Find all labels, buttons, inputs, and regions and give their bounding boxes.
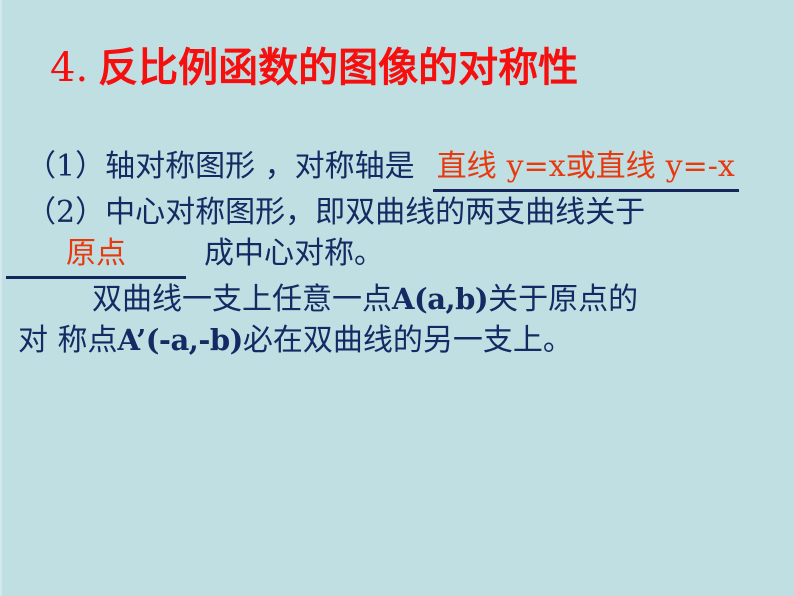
line3-answer-origin: 原点 <box>66 236 126 271</box>
line1-text: 轴对称图形 ，对称轴是 <box>105 149 415 184</box>
line1-answer-line-label-1: 直线 <box>437 149 497 184</box>
body-line-2: （2）中心对称图形，即双曲线的两支曲线关于 <box>0 192 794 233</box>
page-title: 4.反比例函数的图像的对称性 <box>50 44 578 92</box>
line3-text: 成中心对称。 <box>204 236 384 271</box>
body-line-3: 原点成中心对称。 <box>0 233 794 279</box>
line1-answer-blank: 直线y=x或直线y=-x <box>433 146 739 192</box>
title-number: 4. <box>50 45 88 91</box>
line3-answer-blank: 原点 <box>6 233 186 279</box>
line4-text-before: 双曲线一支上任意一点 <box>92 282 392 317</box>
line1-answer-equation-2: y=-x <box>666 149 735 184</box>
body-line-1: （1）轴对称图形 ，对称轴是直线y=x或直线y=-x <box>0 146 794 192</box>
body-text-block: （1）轴对称图形 ，对称轴是直线y=x或直线y=-x （2）中心对称图形，即双曲… <box>0 146 794 361</box>
line1-label: （1） <box>26 149 105 184</box>
line1-answer-equation-1: y=x <box>507 149 566 184</box>
body-line-5: 对 称点A’(-a,-b)必在双曲线的另一支上。 <box>0 320 794 361</box>
line4-text-after: 关于原点的 <box>488 282 638 317</box>
slide-canvas: 4.反比例函数的图像的对称性 （1）轴对称图形 ，对称轴是直线y=x或直线y=-… <box>0 0 794 596</box>
title-text: 反比例函数的图像的对称性 <box>98 44 578 91</box>
line4-point-a: A(a,b) <box>392 282 488 316</box>
line5-point-a-prime: A’(-a,-b) <box>118 323 243 357</box>
line2-label: （2） <box>26 195 105 230</box>
line5-text-after: 必在双曲线的另一支上。 <box>243 323 573 358</box>
line2-text: 中心对称图形，即双曲线的两支曲线关于 <box>105 195 645 230</box>
body-line-4: 双曲线一支上任意一点A(a,b)关于原点的 <box>0 279 794 320</box>
line5-text-before: 对 称点 <box>18 323 118 358</box>
line1-answer-line-label-2: 或直线 <box>566 149 656 184</box>
